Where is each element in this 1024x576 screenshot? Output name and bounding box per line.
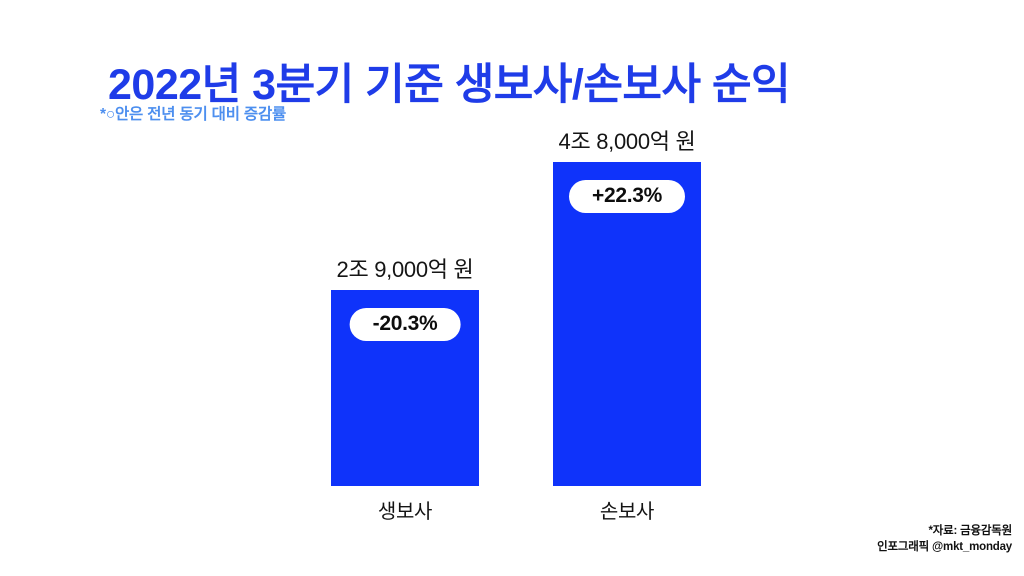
bar-value-label: 2조 9,000억 원: [337, 252, 474, 284]
bar-delta-badge: -20.3%: [350, 308, 461, 341]
bar-chart: 2조 9,000억 원 -20.3% 생보사 4조 8,000억 원 +22.3…: [0, 0, 1024, 576]
infographic-credit: 인포그래픽 @mkt_monday: [877, 539, 1012, 556]
bar-general-insurance: +22.3%: [553, 162, 701, 486]
bar-category-label: 생보사: [378, 495, 432, 524]
bar-group-general-insurance: 4조 8,000억 원 +22.3% 손보사: [553, 162, 701, 486]
infographic-slide: 2022년 3분기 기준 생보사/손보사 순익 *○안은 전년 동기 대비 증감…: [0, 0, 1024, 576]
bar-delta-badge: +22.3%: [569, 180, 685, 213]
footer-credits: *자료: 금융감독원 인포그래픽 @mkt_monday: [877, 523, 1012, 556]
source-note: *자료: 금융감독원: [877, 523, 1012, 540]
bar-group-life-insurance: 2조 9,000억 원 -20.3% 생보사: [331, 290, 479, 486]
bar-life-insurance: -20.3%: [331, 290, 479, 486]
bar-category-label: 손보사: [600, 495, 654, 524]
bar-value-label: 4조 8,000억 원: [559, 124, 696, 156]
